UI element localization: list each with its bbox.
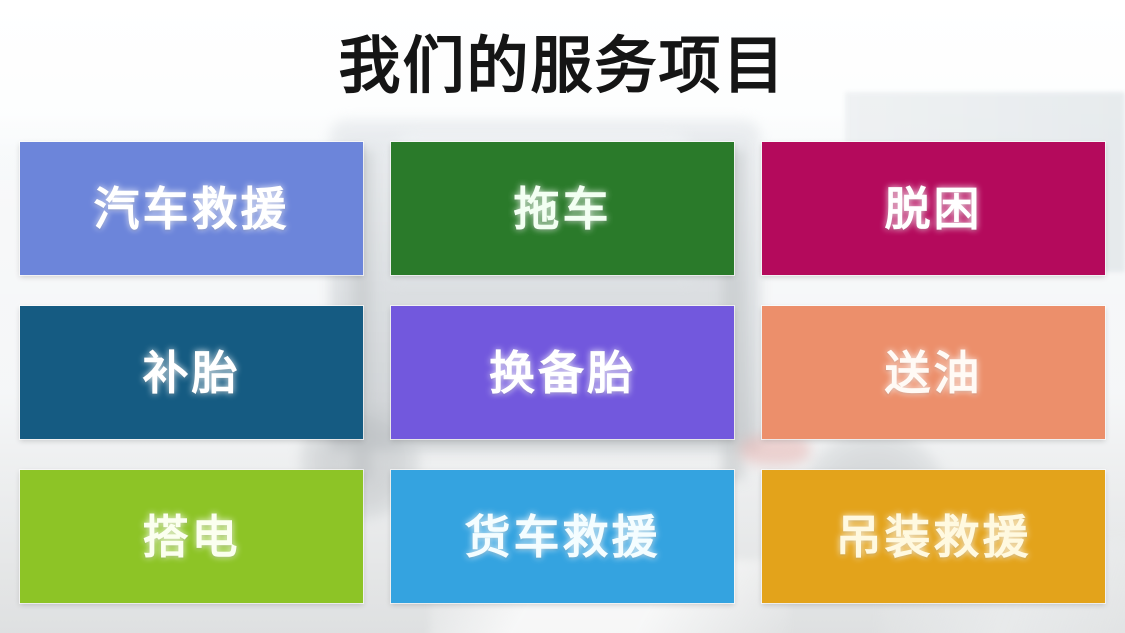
service-tile-label: 送油 [885,350,983,396]
service-tile-grid: 汽车救援拖车脱困补胎换备胎送油搭电货车救援吊装救援 [20,142,1105,604]
service-tile-tow-truck[interactable]: 拖车 [391,142,734,275]
service-tile-crane-rescue[interactable]: 吊装救援 [762,470,1105,603]
service-tile-extrication[interactable]: 脱困 [762,142,1105,275]
service-tile-label: 补胎 [143,350,241,396]
service-tile-label: 汽车救援 [94,186,290,232]
service-tile-tire-repair[interactable]: 补胎 [20,306,363,439]
page-title: 我们的服务项目 [338,29,786,97]
service-tile-spare-tire-change[interactable]: 换备胎 [391,306,734,439]
service-tile-label: 吊装救援 [836,514,1032,560]
service-tile-truck-rescue[interactable]: 货车救援 [391,470,734,603]
page-header: 我们的服务项目 [0,0,1125,125]
service-tile-fuel-delivery[interactable]: 送油 [762,306,1105,439]
service-tile-label: 拖车 [514,186,612,232]
service-tile-label: 搭电 [143,514,241,560]
service-tile-car-rescue[interactable]: 汽车救援 [20,142,363,275]
service-tile-label: 脱困 [885,186,983,232]
service-tile-jump-start[interactable]: 搭电 [20,470,363,603]
service-tile-label: 换备胎 [489,350,636,396]
service-menu-page: 我们的服务项目 汽车救援拖车脱困补胎换备胎送油搭电货车救援吊装救援 [0,0,1125,633]
service-tile-label: 货车救援 [465,514,661,560]
